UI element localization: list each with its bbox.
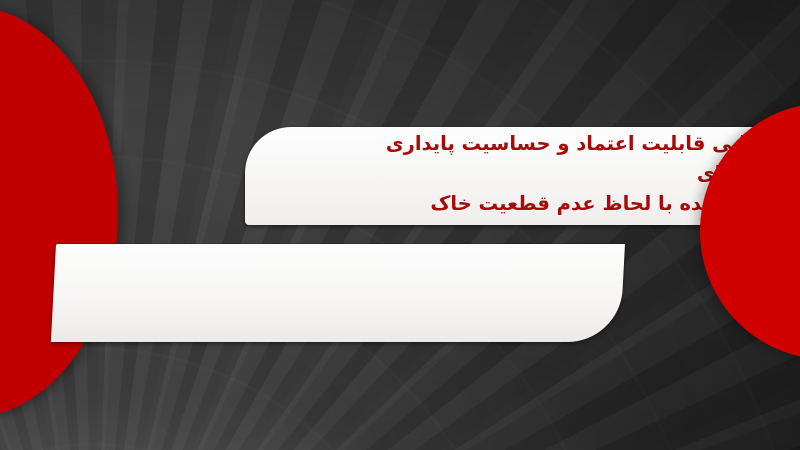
background-vignette	[0, 0, 800, 450]
subtitle-panel-inner	[53, 244, 622, 342]
subtitle-panel	[51, 244, 625, 342]
presentation-slide: ارزیابی قابلیت اعتماد و حساسیت پایداری د…	[0, 0, 800, 450]
